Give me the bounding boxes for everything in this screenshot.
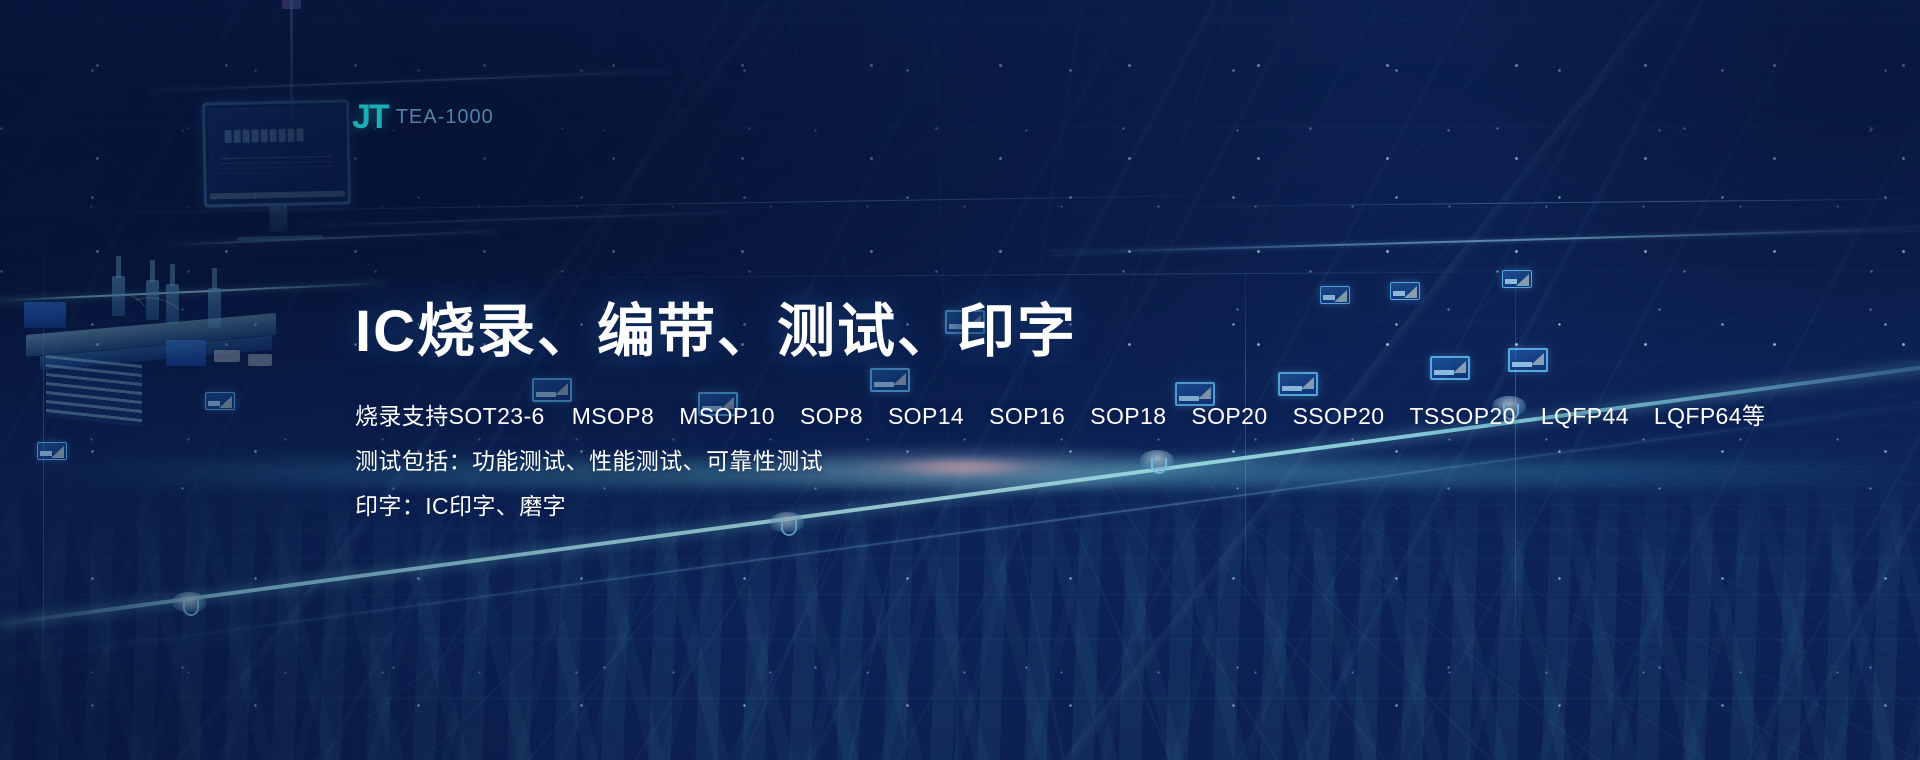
package-item: SOP20 [1191,405,1267,428]
package-item: TSSOP20 [1409,405,1515,428]
package-item: SOP18 [1090,405,1166,428]
package-item: SOP16 [989,405,1065,428]
hero-copy-block: IC烧录、编带、测试、印字 烧录支持SOT23-6 MSOP8 MSOP10 S… [355,300,1655,540]
package-item: MSOP10 [679,405,775,428]
ic-service-hero-banner: JT TEA-1000 IC烧录、编带、测试、印字 烧录支持SOT23-6 MS… [0,0,1920,760]
package-item: LQFP64等 [1654,405,1765,428]
package-item: LQFP44 [1541,405,1629,428]
equipment-brand-mark: JT TEA-1000 [352,100,494,134]
brand-logo-text: JT [352,100,388,134]
marking-line: 印字：IC印字、磨字 [355,495,1655,518]
package-item: SOP14 [888,405,964,428]
page-title: IC烧录、编带、测试、印字 [355,300,1655,365]
testing-line: 测试包括：功能测试、性能测试、可靠性测试 [355,450,1655,473]
packages-row: 烧录支持SOT23-6 MSOP8 MSOP10 SOP8 SOP14 SOP1… [355,405,1655,428]
package-item: MSOP8 [572,405,655,428]
service-detail-list: 烧录支持SOT23-6 MSOP8 MSOP10 SOP8 SOP14 SOP1… [355,405,1655,518]
package-item: SOP8 [800,405,863,428]
package-item: SSOP20 [1293,405,1385,428]
packages-line: 烧录支持SOT23-6 MSOP8 MSOP10 SOP8 SOP14 SOP1… [355,405,1655,428]
brand-model-text: TEA-1000 [396,107,494,127]
packages-lead-label: 烧录支持SOT23-6 [355,405,545,428]
